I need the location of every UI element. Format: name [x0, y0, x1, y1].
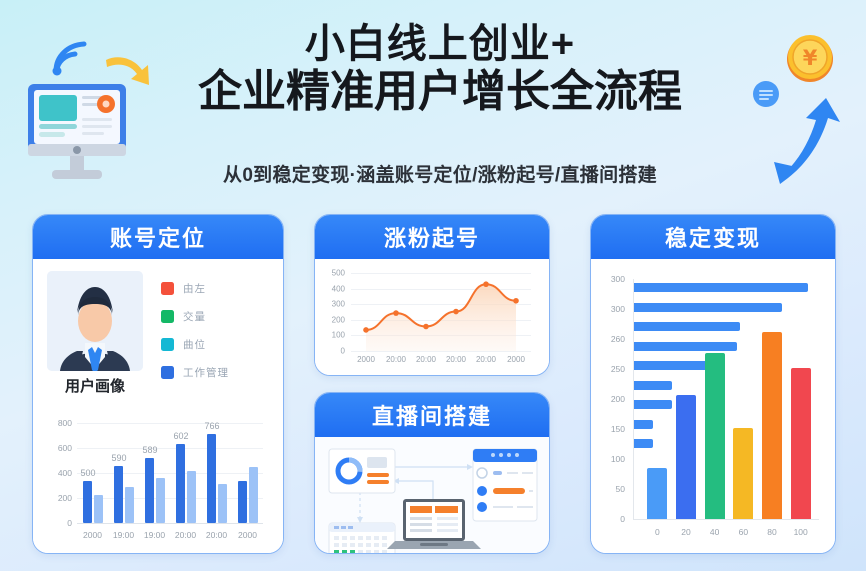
y-axis-label: 0 — [601, 514, 625, 524]
x-axis-label: 19:00 — [144, 530, 165, 540]
card-mid-bot-body — [315, 437, 549, 553]
bar-value-label: 766 — [204, 421, 219, 431]
x-axis-label: 20 — [681, 527, 690, 537]
bar-primary — [207, 434, 216, 523]
bar-value-label: 589 — [142, 445, 157, 455]
line-series — [327, 267, 537, 367]
bar-secondary — [125, 487, 134, 523]
card-follower-growth[interactable]: 涨粉起号 0100200300400500200020:0020:0020:00… — [314, 214, 550, 376]
livestream-diagram — [315, 437, 550, 553]
x-axis-label: 0 — [655, 527, 660, 537]
bar-secondary — [187, 471, 196, 524]
y-axis-label: 100 — [601, 454, 625, 464]
bar-secondary — [249, 467, 258, 523]
header: 小白线上创业+ 企业精准用户增长全流程 从0到稳定变现·涵盖账号定位/涨粉起号/… — [0, 0, 866, 205]
legend-label-2: 交量 — [183, 309, 206, 324]
v-bar — [791, 368, 811, 519]
y-axis-label: 300 — [601, 304, 625, 314]
y-axis-label: 400 — [51, 468, 72, 478]
x-axis-label: 80 — [767, 527, 776, 537]
gridline — [77, 473, 263, 474]
bar-value-label: 602 — [173, 431, 188, 441]
x-axis-label: 2000 — [238, 530, 257, 540]
x-axis-label: 20:00 — [206, 530, 227, 540]
card-left-title: 账号定位 — [110, 221, 206, 253]
bar-primary — [145, 458, 154, 523]
legend-swatch-3 — [161, 338, 174, 351]
chart-mid-line: 0100200300400500200020:0020:0020:0020:00… — [327, 267, 537, 367]
card-mid-top-title: 涨粉起号 — [384, 221, 480, 253]
x-axis-label: 20:00 — [476, 355, 496, 364]
wifi-icon — [48, 38, 92, 78]
y-axis-label: 0 — [51, 518, 72, 528]
svg-text:¥: ¥ — [803, 46, 818, 70]
bar-secondary — [218, 484, 227, 523]
card-account-positioning[interactable]: 账号定位 用户画像 由左 — [32, 214, 284, 554]
x-axis — [633, 519, 819, 520]
legend-item: 交量 — [161, 309, 229, 324]
y-axis-label: 50 — [601, 484, 625, 494]
card-right-body: 050100150200250260300300020406080100 — [591, 259, 835, 553]
legend-label-3: 曲位 — [183, 337, 206, 352]
blue-double-arrow-icon — [770, 92, 850, 192]
x-axis-label: 2000 — [83, 530, 102, 540]
h-bar — [634, 400, 672, 409]
x-axis-label: 20:00 — [416, 355, 436, 364]
x-axis — [77, 523, 263, 524]
legend-swatch-1 — [161, 282, 174, 295]
x-axis-label: 2000 — [357, 355, 375, 364]
title-block: 小白线上创业+ 企业精准用户增长全流程 — [140, 22, 740, 117]
monitor-illustration — [22, 78, 134, 183]
h-bar — [634, 381, 672, 390]
h-bar — [634, 439, 653, 448]
v-bar — [705, 353, 725, 520]
x-axis-label: 100 — [794, 527, 808, 537]
v-bar — [647, 468, 667, 519]
card-left-body: 用户画像 由左 交量 曲位 工作管理 — [33, 259, 283, 553]
v-bar — [733, 428, 753, 520]
gridline — [77, 448, 263, 449]
legend-swatch-4 — [161, 366, 174, 379]
card-mid-top-body: 0100200300400500200020:0020:0020:0020:00… — [315, 259, 549, 375]
x-axis-label: 60 — [739, 527, 748, 537]
bar-primary — [238, 481, 247, 523]
gridline — [77, 423, 263, 424]
x-axis-label: 20:00 — [386, 355, 406, 364]
avatar — [47, 271, 143, 371]
legend-item: 曲位 — [161, 337, 229, 352]
card-livestream-setup[interactable]: 直播间搭建 — [314, 392, 550, 554]
h-bar — [634, 342, 737, 351]
x-axis-label: 2000 — [507, 355, 525, 364]
v-bar — [676, 395, 696, 520]
h-bar — [634, 322, 740, 331]
card-mid-bot-title: 直播间搭建 — [372, 399, 492, 431]
legend-label-4: 工作管理 — [183, 365, 229, 380]
avatar-label: 用户画像 — [41, 375, 149, 396]
legend-swatch-2 — [161, 310, 174, 323]
legend: 由左 交量 曲位 工作管理 — [161, 281, 229, 393]
bar-secondary — [156, 478, 165, 523]
x-axis-label: 20:00 — [175, 530, 196, 540]
card-left-header: 账号定位 — [33, 215, 283, 259]
card-right-header: 稳定变现 — [591, 215, 835, 259]
x-axis-label: 19:00 — [113, 530, 134, 540]
card-stable-monetization[interactable]: 稳定变现 05010015020025026030030002040608010… — [590, 214, 836, 554]
legend-item: 工作管理 — [161, 365, 229, 380]
h-bar — [634, 420, 653, 429]
card-mid-bot-header: 直播间搭建 — [315, 393, 549, 437]
legend-item: 由左 — [161, 281, 229, 296]
gridline — [77, 498, 263, 499]
chart-right-combo: 050100150200250260300300020406080100 — [601, 273, 827, 541]
subtitle: 从0到稳定变现·涵盖账号定位/涨粉起号/直播间搭建 — [140, 160, 740, 187]
y-axis-label: 600 — [51, 443, 72, 453]
y-axis-label: 260 — [601, 334, 625, 344]
y-axis-label: 150 — [601, 424, 625, 434]
title-line-1: 小白线上创业+ — [140, 22, 740, 67]
bar-primary — [114, 466, 123, 524]
h-bar — [634, 303, 782, 312]
h-bar — [634, 283, 808, 292]
y-axis-label: 300 — [601, 274, 625, 284]
chart-left-bars: 0200400600800500200059019:0058919:006022… — [51, 407, 267, 543]
poster-root: 小白线上创业+ 企业精准用户增长全流程 从0到稳定变现·涵盖账号定位/涨粉起号/… — [0, 0, 866, 571]
bar-primary — [83, 481, 92, 524]
y-axis-label: 200 — [51, 493, 72, 503]
x-axis-label: 40 — [710, 527, 719, 537]
title-line-2: 企业精准用户增长全流程 — [140, 67, 740, 118]
x-axis-label: 20:00 — [446, 355, 466, 364]
bar-value-label: 500 — [80, 468, 95, 478]
card-mid-top-header: 涨粉起号 — [315, 215, 549, 259]
card-right-title: 稳定变现 — [665, 221, 761, 253]
bar-secondary — [94, 495, 103, 523]
y-axis-label: 800 — [51, 418, 72, 428]
y-axis-label: 200 — [601, 394, 625, 404]
y-axis-label: 250 — [601, 364, 625, 374]
yuan-coin-icon: ¥ — [784, 32, 836, 84]
legend-label-1: 由左 — [183, 281, 206, 296]
bar-primary — [176, 444, 185, 523]
v-bar — [762, 332, 782, 520]
bar-value-label: 590 — [111, 453, 126, 463]
y-axis — [633, 279, 634, 519]
